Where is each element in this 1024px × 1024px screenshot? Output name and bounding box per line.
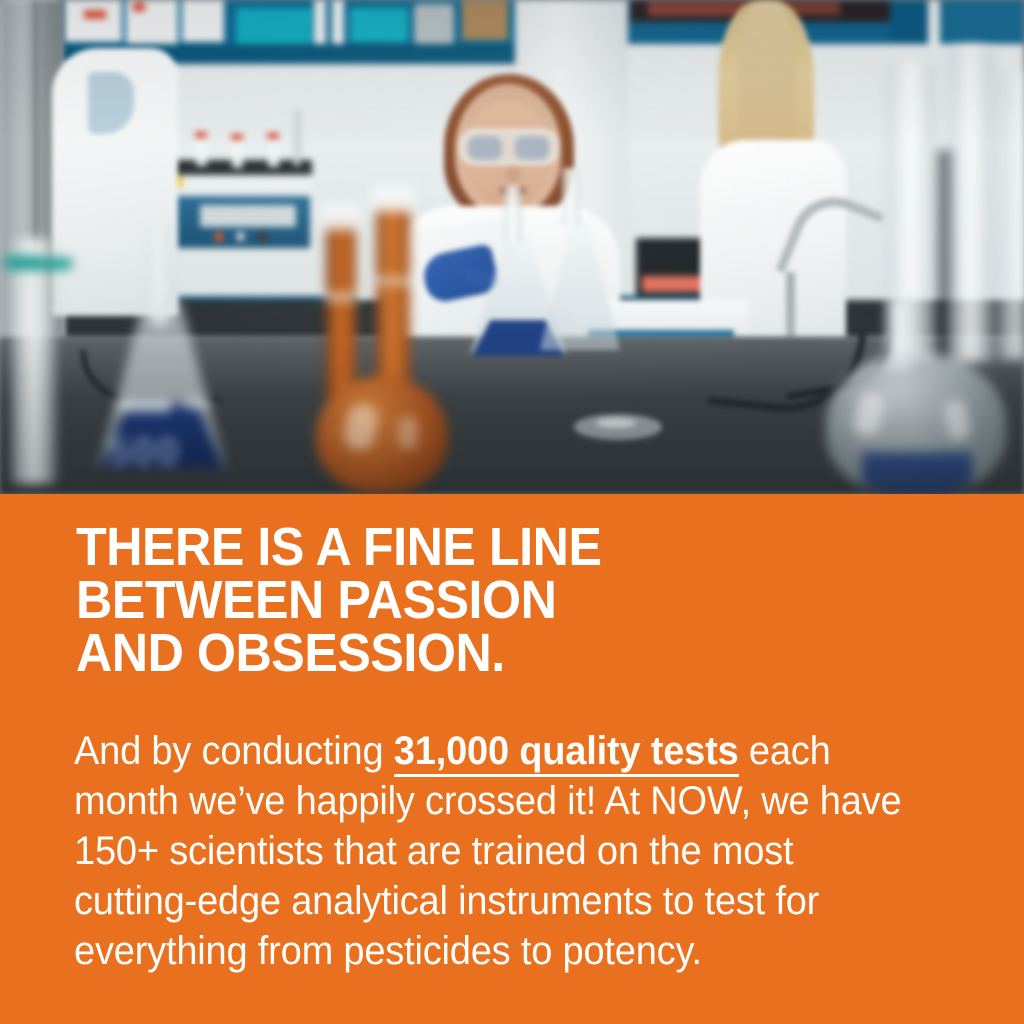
shelf-box-brown [462, 0, 508, 40]
amber-column-1-ring [324, 292, 358, 302]
amber-column-2-ring [374, 276, 412, 286]
shelf-bottle-teal-1 [236, 8, 312, 44]
right-flask-liquid [862, 452, 972, 494]
headline: THERE IS A FINE LINE BETWEEN PASSION AND… [76, 521, 894, 680]
goggles-lens-right [515, 136, 549, 160]
shelf-box-1 [64, 0, 122, 42]
amber-column-2-cap [372, 186, 414, 212]
cabinet-divider-right [890, 0, 928, 44]
body-copy-lead: And by conducting [74, 729, 394, 773]
analyzer-knob-dark [256, 231, 268, 243]
shelf-box-3 [182, 0, 224, 42]
autosampler-vial-3 [232, 138, 243, 168]
scientist-center-nose [506, 166, 520, 182]
upper-cabinet-far-right [940, 0, 1024, 44]
flask-500-highlight-2 [182, 398, 210, 409]
amber-flask-highlight-2 [398, 416, 418, 450]
right-cylinder-3 [998, 70, 1024, 360]
shelf-bottle-white-1 [314, 0, 326, 44]
analyzer-left-display [200, 205, 296, 227]
flask-500-highlight [118, 400, 172, 412]
watch-glass-highlight [596, 418, 636, 428]
analyzer-knob-white [236, 232, 245, 241]
post-clamp-teal-2 [58, 258, 72, 269]
autosampler-vial-2 [196, 136, 207, 166]
right-cylinder-2 [948, 46, 994, 362]
support-rod-2 [294, 110, 300, 166]
shelf-bottle-white-2 [332, 0, 344, 44]
goggles-lens-left [468, 136, 502, 160]
shelf-item-red-right-1 [648, 2, 748, 16]
laboratory-photo: 500 [0, 0, 1024, 494]
quality-tests-highlight: 31,000 quality tests [394, 729, 739, 777]
graduated-cylinder-left [12, 238, 56, 484]
shelf-bottle-teal-2 [350, 8, 408, 42]
autosampler-vial-4 [268, 137, 279, 167]
shelf-label-red-2 [132, 2, 146, 12]
shelf-apparatus-gray [414, 4, 454, 44]
social-graphic-canvas: 500 THERE IS A FINE LINE BETWEEN PASSION… [0, 0, 1024, 1024]
erlenmeyer-center-neck [504, 186, 522, 242]
erlenmeyer-center-right-neck [562, 168, 580, 226]
orange-text-panel: THERE IS A FINE LINE BETWEEN PASSION AND… [0, 494, 1024, 1024]
autosampler-vial-cap-4 [267, 133, 279, 139]
analyzer-power-indicator [214, 232, 224, 242]
flask-500-graduation-label: 500 [108, 430, 218, 472]
body-copy: And by conducting 31,000 quality tests e… [74, 726, 910, 976]
amber-flask-bulb [316, 376, 448, 494]
amber-column-1-cap [322, 204, 360, 230]
autosampler-vial-cap-3 [231, 134, 243, 140]
autosampler-vial-cap-2 [195, 132, 207, 138]
shelf-label-red-1 [84, 10, 106, 19]
